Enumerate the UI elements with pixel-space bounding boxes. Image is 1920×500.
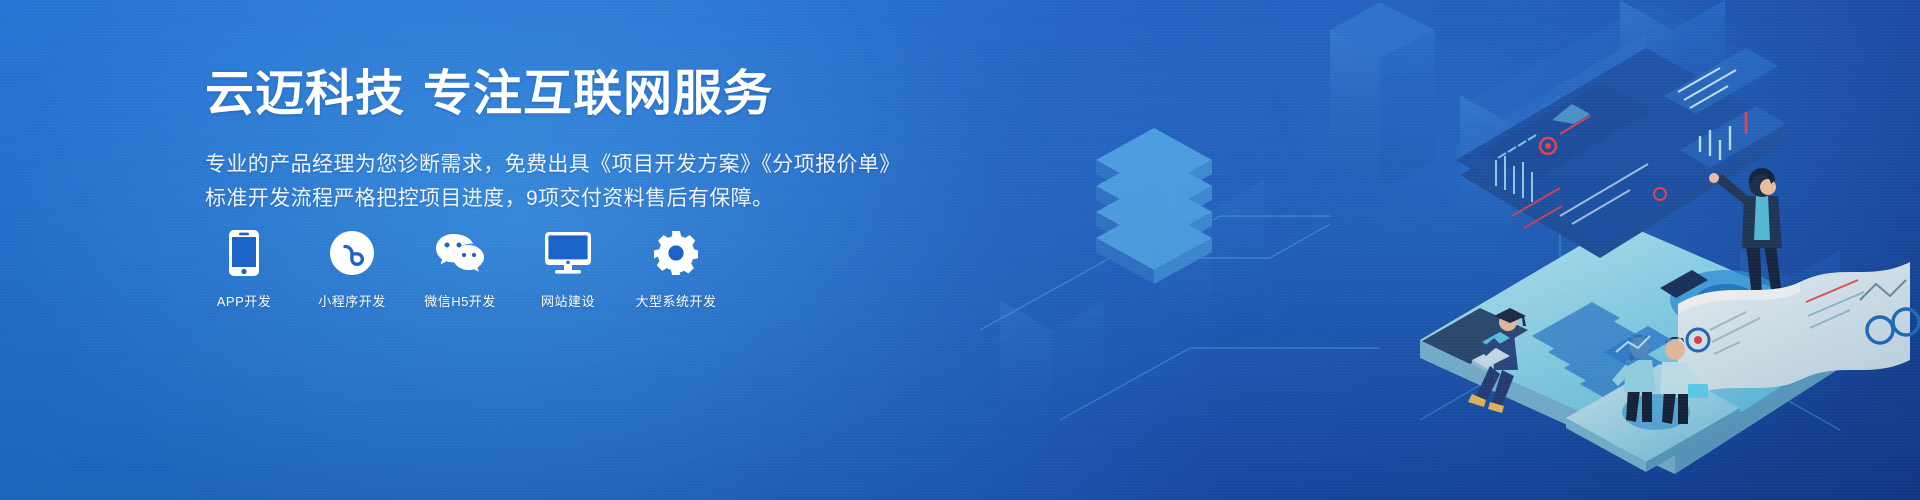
banner-copy: 云迈科技专注互联网服务 专业的产品经理为您诊断需求，免费出具《项目开发方案》《分… [205,66,905,216]
monitor-icon [543,228,593,278]
mini-program-icon [327,228,377,278]
mobile-phone-icon [219,228,269,278]
service-item-website[interactable]: 网站建设 [529,228,607,310]
isometric-data-dashboard-illustration [860,0,1920,500]
service-label: 大型系统开发 [636,291,717,310]
page-title: 云迈科技专注互联网服务 [205,66,905,122]
banner-subtitle: 专业的产品经理为您诊断需求，免费出具《项目开发方案》《分项报价单》 标准开发流程… [205,148,905,216]
promo-banner: 云迈科技专注互联网服务 专业的产品经理为您诊断需求，免费出具《项目开发方案》《分… [0,0,1920,500]
subtitle-line-2: 标准开发流程严格把控项目进度，9项交付资料售后有保障。 [205,182,905,216]
service-item-app[interactable]: APP开发 [205,228,283,310]
service-item-mini-program[interactable]: 小程序开发 [313,228,391,310]
service-item-wechat-h5[interactable]: 微信H5开发 [421,228,499,310]
service-label: 网站建设 [541,291,595,310]
wechat-icon [435,228,485,278]
service-item-large-system[interactable]: 大型系统开发 [637,228,715,310]
service-list: APP开发 小程序开发 微信 [205,228,715,310]
title-brand: 云迈科技 [205,67,405,121]
service-label: APP开发 [217,291,272,310]
gear-icon [651,228,701,278]
subtitle-line-1: 专业的产品经理为您诊断需求，免费出具《项目开发方案》《分项报价单》 [205,148,905,182]
service-label: 小程序开发 [318,291,386,310]
title-tagline: 专注互联网服务 [423,67,773,121]
service-label: 微信H5开发 [424,291,496,310]
